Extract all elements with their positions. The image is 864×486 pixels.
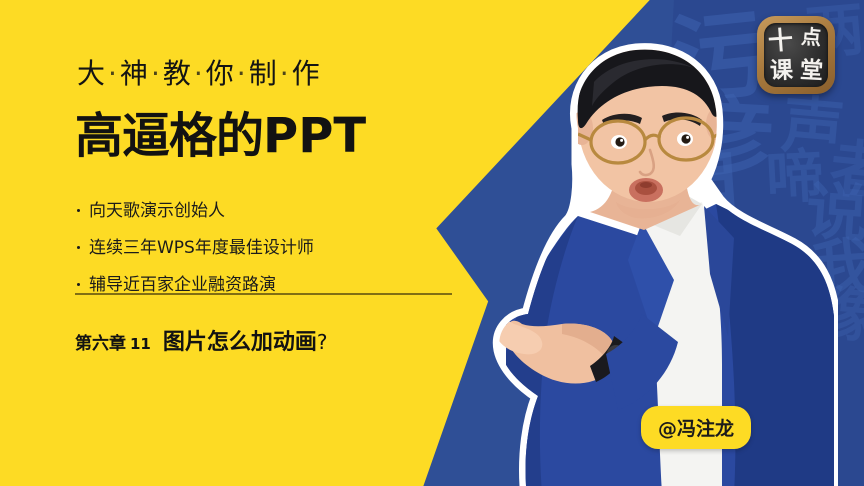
copy-block: 大·神·教·你·制·作 高逼格的PPT 向天歌演示创始人连续三年WPS年度最佳设… [75,0,475,486]
eyebrow-separator-dot: · [280,57,290,90]
eyebrow-char: 制 [249,57,278,90]
eyebrow-separator-dot: · [151,57,161,90]
eyebrow-separator-dot: · [237,57,247,90]
eyebrow-separator-dot: · [194,57,204,90]
chapter-title-mark: ? [317,330,328,354]
course-cover-canvas: 污彦祖声啼者两说我像学声 十 点 课 堂 [0,0,864,486]
chapter-title: 图片怎么加动画 [163,330,317,355]
headline-cn: 高逼格的 [75,108,263,164]
eyebrow-char: 作 [292,57,321,90]
credential-item-label: 辅导近百家企业融资路演 [89,270,276,295]
eyebrow-text: 大·神·教·你·制·作 [77,52,321,92]
bullet-dot-icon [77,283,80,286]
chapter-number: 11 [130,335,151,353]
headline: 高逼格的PPT [75,96,366,166]
bullet-dot-icon [77,209,80,212]
eyebrow-char: 教 [163,57,192,90]
eyebrow-char: 神 [120,57,149,90]
eyebrow-char: 你 [206,57,235,90]
section-divider [75,293,452,295]
credential-item-label: 向天歌演示创始人 [89,196,225,221]
credential-item: 连续三年WPS年度最佳设计师 [77,233,314,258]
credential-item: 辅导近百家企业融资路演 [77,270,314,295]
headline-latin: PPT [263,108,366,164]
chapter-line: 第六章11 图片怎么加动画? [75,324,328,356]
eyebrow-separator-dot: · [108,57,118,90]
author-handle-badge: @冯注龙 [641,406,751,449]
chapter-title-group: 图片怎么加动画? [163,324,328,356]
chapter-label-group: 第六章11 [75,329,151,354]
credential-list: 向天歌演示创始人连续三年WPS年度最佳设计师辅导近百家企业融资路演 [77,196,314,307]
credential-item-label: 连续三年WPS年度最佳设计师 [89,233,314,258]
credential-item: 向天歌演示创始人 [77,196,314,221]
bullet-dot-icon [77,246,80,249]
chapter-label: 第六章 [75,334,126,354]
eyebrow-char: 大 [77,57,106,90]
